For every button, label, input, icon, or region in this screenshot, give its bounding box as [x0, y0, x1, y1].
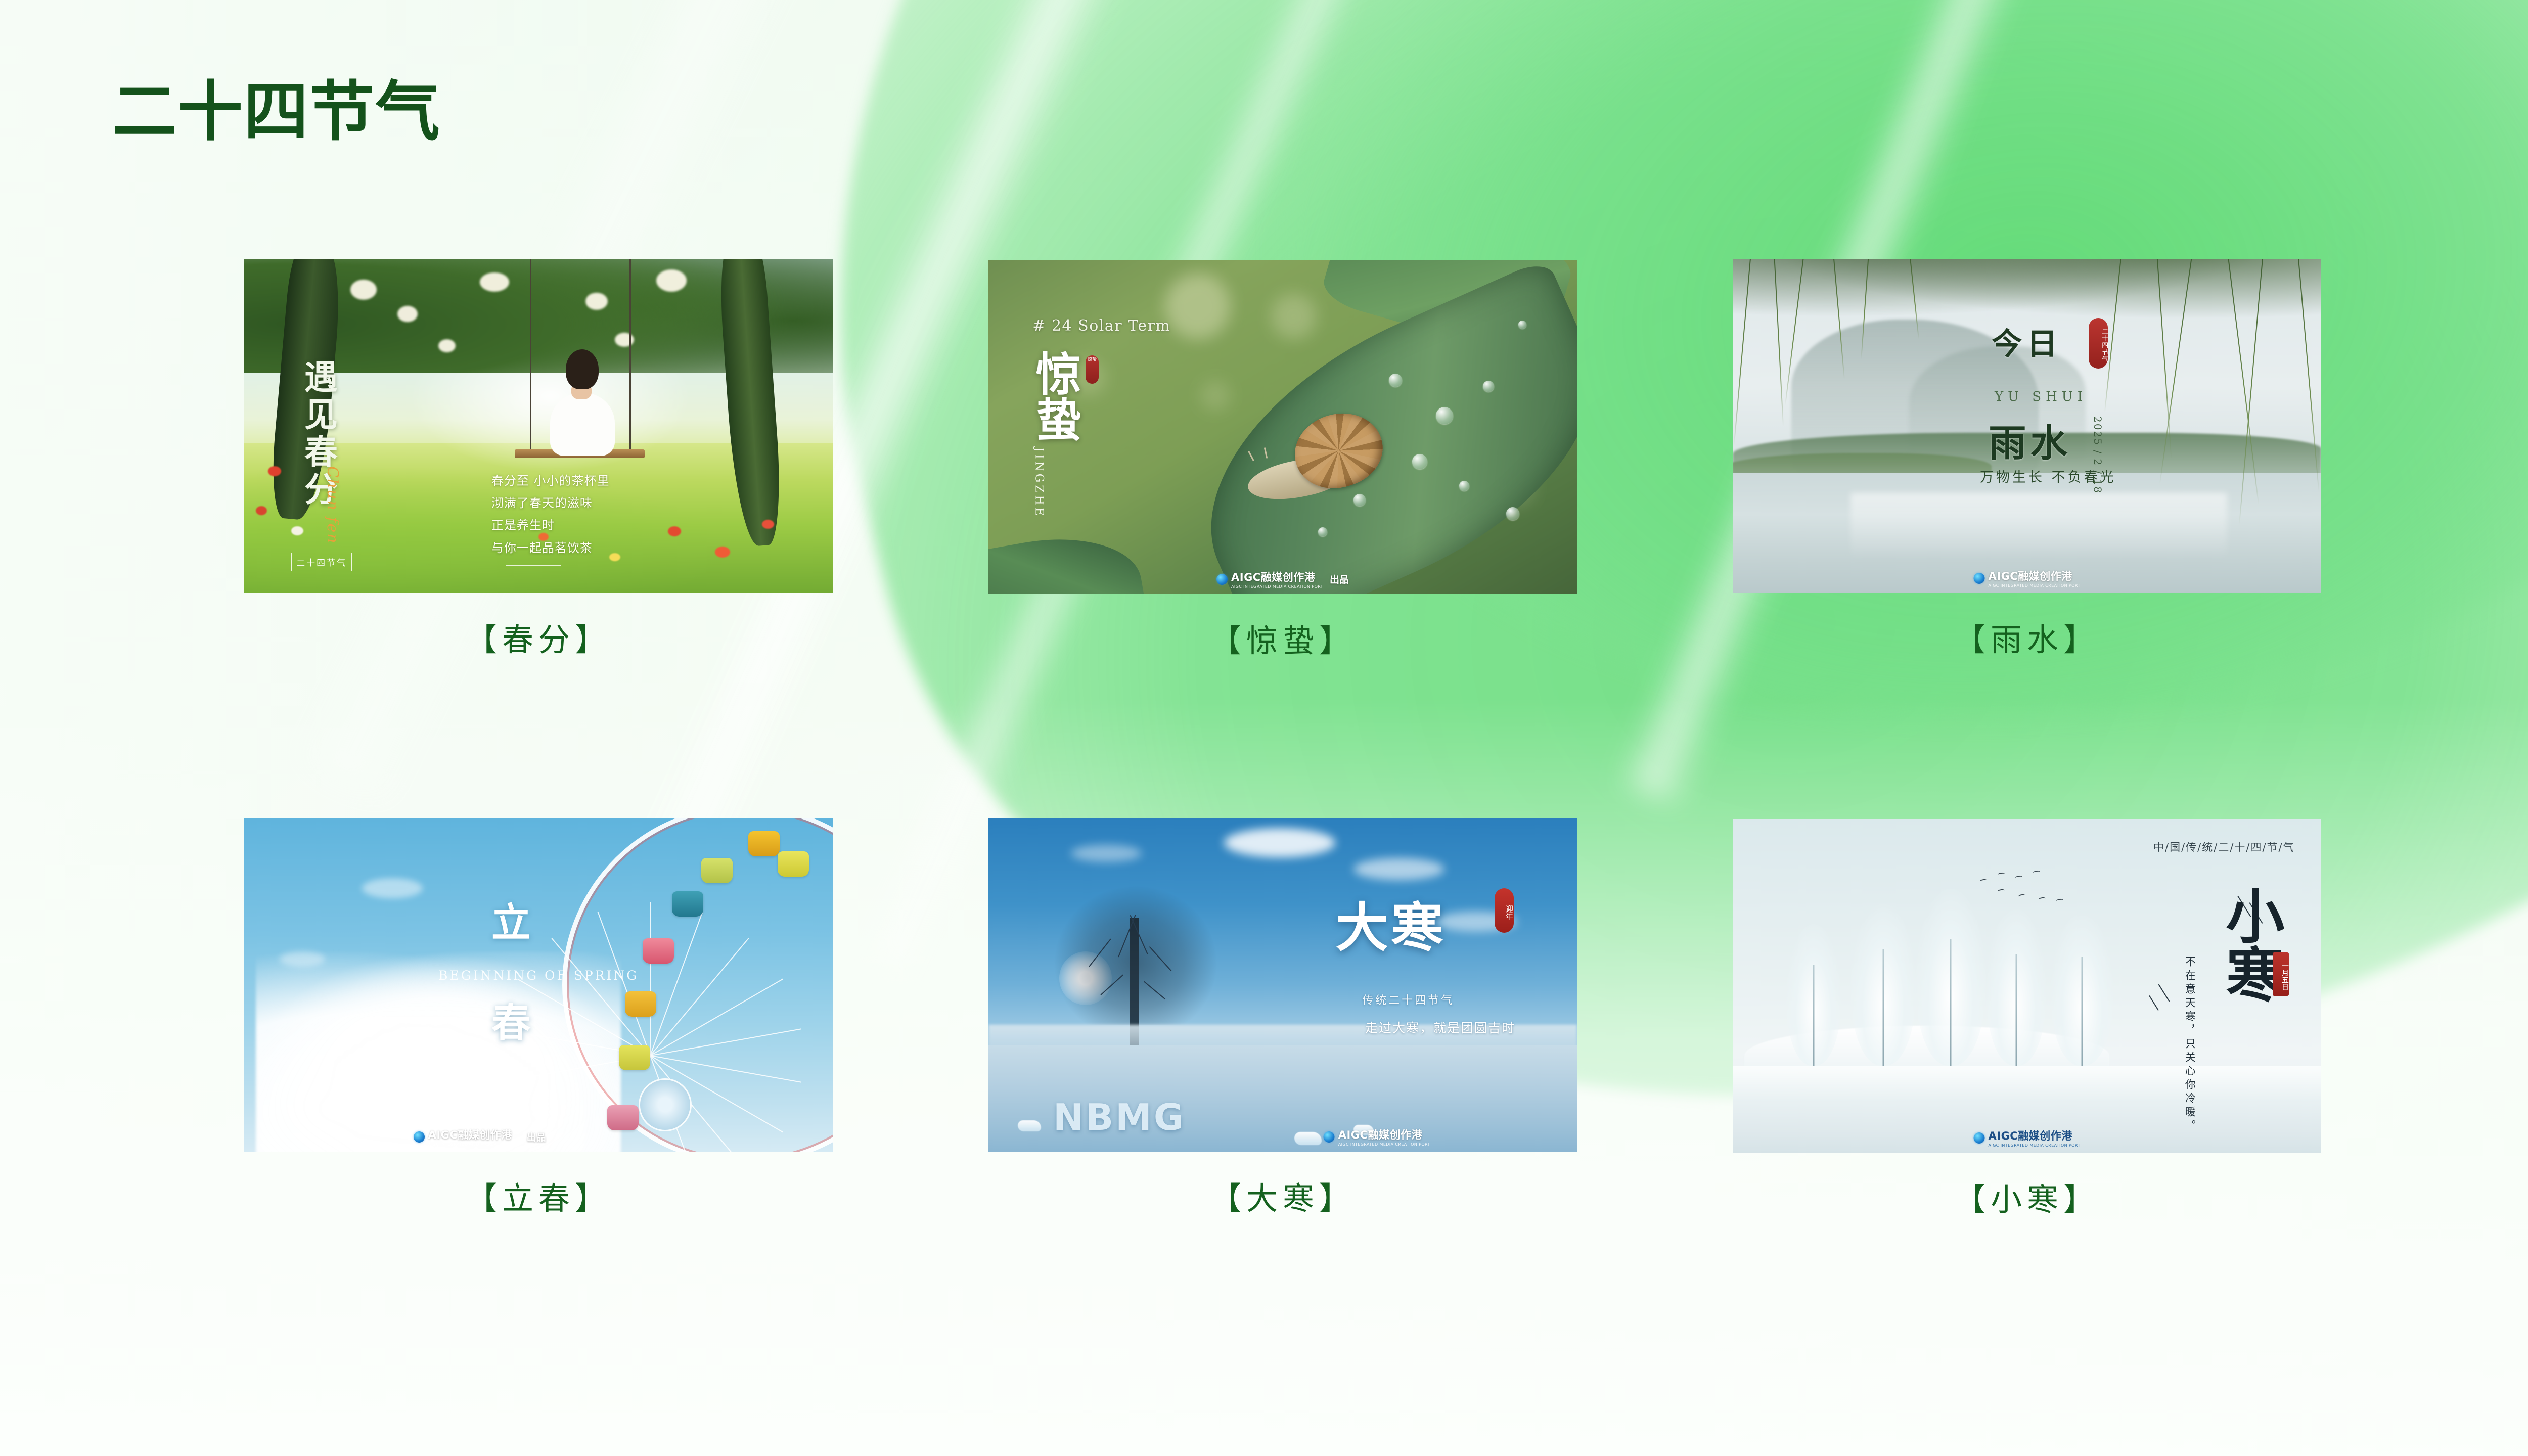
aigc-logo-icon: [414, 1131, 425, 1143]
bird-icon: [1979, 879, 1987, 883]
blossom: [656, 269, 687, 292]
bird-icon: [2015, 875, 2022, 880]
blossom: [350, 280, 377, 300]
water-drop: [1518, 321, 1526, 329]
overlay-title: 大寒: [1336, 885, 1446, 961]
frost-tree: [1850, 894, 1916, 1066]
bird-icon: [1997, 872, 2005, 877]
frost-tree: [1786, 914, 1841, 1066]
overlay-header: 中/国/传/统/二/十/四/节/气: [2153, 839, 2295, 854]
lake-reflection: [1850, 493, 2227, 560]
flower: [609, 553, 620, 561]
frost-tree: [2051, 904, 2114, 1066]
thumbnail-jingzhe[interactable]: # 24 Solar Term 惊蛰 惊蛰 JINGZHE AIGC融媒创作港 …: [988, 260, 1577, 594]
watermark-brand-en: AIGC INTEGRATED MEDIA CREATION PORT: [1989, 583, 2081, 588]
ferris-cabin: [619, 1045, 650, 1070]
thumbnail-chunfen[interactable]: 遇见春分 Chun fen 二十四节气 春分至 小小的茶杯里 沏满了春天的滋味 …: [244, 259, 833, 593]
ferris-cabin: [672, 891, 703, 917]
watermark-brand: AIGC融媒创作港 AIGC INTEGRATED MEDIA CREATION…: [1989, 568, 2081, 588]
watermark: AIGC融媒创作港 AIGC INTEGRATED MEDIA CREATION…: [1974, 568, 2081, 588]
cloud: [362, 878, 423, 898]
watermark-suffix: 出品: [527, 1130, 546, 1144]
watermark-brand-en: AIGC INTEGRATED MEDIA CREATION PORT: [428, 1142, 520, 1147]
water-drop: [1483, 381, 1494, 392]
poem-line: 正是养生时: [491, 518, 555, 532]
ferris-cabin: [643, 938, 674, 964]
watermark-brand-cn: AIGC融媒创作港: [1231, 571, 1315, 583]
frost-trunk: [1950, 939, 1951, 1066]
overlay-stamp: 二十四节气: [291, 553, 352, 571]
overlay-seal: 一月五日: [2273, 952, 2289, 996]
aigc-logo-icon: [1974, 573, 1985, 584]
overlay-rule: [1359, 1012, 1524, 1013]
overlay-title: 小寒: [2220, 886, 2280, 1003]
bokeh: [1271, 294, 1317, 339]
frost-tree: [1915, 879, 1986, 1066]
overlay-subtitle: 万物生长 不负春光: [1980, 466, 2116, 486]
water-drop: [1436, 407, 1453, 424]
card-caption: 【立春】: [244, 1173, 833, 1218]
frost-trunk: [2015, 954, 2017, 1066]
watermark: AIGC融媒创作港 AIGC INTEGRATED MEDIA CREATION…: [1324, 1127, 1430, 1147]
watermark-suffix: 出品: [1330, 572, 1349, 586]
solar-terms-grid: 遇见春分 Chun fen 二十四节气 春分至 小小的茶杯里 沏满了春天的滋味 …: [0, 0, 2528, 1456]
water-drop: [1412, 454, 1427, 469]
overlay-seal: 迎年: [1495, 888, 1514, 933]
bird-icon: [2018, 894, 2025, 898]
frost-trunk: [2082, 957, 2083, 1066]
watermark: AIGC融媒创作港 AIGC INTEGRATED MEDIA CREATION…: [414, 1127, 546, 1147]
spoke: [650, 902, 651, 1056]
watermark-brand: AIGC融媒创作港 AIGC INTEGRATED MEDIA CREATION…: [1231, 569, 1323, 589]
scene-dahan: NBMG 大寒 迎年 传统二十四节气 走过大寒，就是团圆吉时 AIGC融媒创作港…: [988, 818, 1577, 1152]
watermark-brand: AIGC融媒创作港 AIGC INTEGRATED MEDIA CREATION…: [1338, 1127, 1430, 1147]
poem-line: 沏满了春天的滋味: [491, 496, 593, 510]
overlay-title: 惊蛰: [1029, 350, 1078, 441]
swing-rope: [629, 259, 631, 453]
bird-icon: [2056, 898, 2064, 903]
cloud: [280, 951, 325, 967]
blossom: [585, 293, 608, 310]
thumbnail-xiaohan[interactable]: 中/国/传/统/二/十/四/节/气 小寒 一月五日 不在意天寒，只关心你冷暖。 …: [1733, 819, 2321, 1153]
ferris-cabin: [778, 851, 809, 877]
blossom: [480, 272, 509, 292]
person-body: [550, 393, 615, 456]
frost-trunk: [1882, 949, 1884, 1066]
water-drop: [1459, 481, 1469, 491]
flower: [668, 526, 681, 536]
scene-yushui: 今日 YU SHUI 雨水 二十四节气 2025 / 2 / 18 万物生长 不…: [1733, 259, 2321, 593]
watermark-brand: AIGC融媒创作港 AIGC INTEGRATED MEDIA CREATION…: [428, 1127, 520, 1147]
overlay-subtitle-a: 传统二十四节气: [1362, 991, 1454, 1008]
ice-sculpture-text: NBMG: [1053, 1096, 1186, 1139]
card-caption: 【大寒】: [988, 1173, 1577, 1218]
bird-icon: [2033, 870, 2040, 875]
ice-block: [1018, 1120, 1041, 1131]
card-caption: 【雨水】: [1733, 614, 2321, 660]
scene-jingzhe: # 24 Solar Term 惊蛰 惊蛰 JINGZHE AIGC融媒创作港 …: [988, 260, 1577, 594]
overlay-tag-en: # 24 Solar Term: [1032, 317, 1170, 335]
ferris-wheel-hub: [639, 1078, 692, 1132]
ferris-cabin: [748, 831, 780, 856]
watermark: AIGC融媒创作港 AIGC INTEGRATED MEDIA CREATION…: [1216, 569, 1349, 589]
poem-line: 春分至 小小的茶杯里: [491, 474, 610, 488]
frost-tree: [1986, 899, 2047, 1066]
flower: [762, 520, 774, 529]
thumbnail-dahan[interactable]: NBMG 大寒 迎年 传统二十四节气 走过大寒，就是团圆吉时 AIGC融媒创作港…: [988, 818, 1577, 1152]
flower: [715, 547, 730, 558]
flower: [291, 526, 303, 535]
overlay-subtitle-en: BEGINNING OF SPRING: [438, 968, 639, 983]
poem-line: 与你一起品茗饮茶: [491, 541, 593, 555]
overlay-pinyin: YU SHUI: [1995, 389, 2087, 404]
scene-xiaohan: 中/国/传/统/二/十/四/节/气 小寒 一月五日 不在意天寒，只关心你冷暖。 …: [1733, 819, 2321, 1153]
ferris-cabin: [701, 858, 733, 883]
cloud: [1224, 828, 1335, 857]
overlay-today: 今日: [1992, 320, 2062, 363]
overlay-title-bottom: 春: [491, 991, 531, 1048]
bird-icon: [1997, 889, 2005, 893]
card-caption: 【惊蛰】: [988, 615, 1577, 661]
overlay-seal: 二十四节气: [2089, 318, 2108, 369]
watermark-brand: AIGC融媒创作港 AIGC INTEGRATED MEDIA CREATION…: [1989, 1128, 2081, 1148]
watermark-brand-cn: AIGC融媒创作港: [428, 1129, 512, 1141]
decorative-dash: [2149, 995, 2159, 1011]
cloud: [1353, 858, 1444, 880]
overlay-poem: 春分至 小小的茶杯里 沏满了春天的滋味 正是养生时 与你一起品茗饮茶: [491, 470, 610, 567]
watermark: AIGC融媒创作港 AIGC INTEGRATED MEDIA CREATION…: [1974, 1128, 2081, 1148]
ferris-cabin: [625, 991, 656, 1017]
overlay-title-top: 立: [491, 891, 531, 948]
water-drop: [1353, 494, 1366, 506]
thumbnail-yushui[interactable]: 今日 YU SHUI 雨水 二十四节气 2025 / 2 / 18 万物生长 不…: [1733, 259, 2321, 593]
frost-trunk: [1813, 965, 1814, 1066]
thumbnail-lichun[interactable]: 立 BEGINNING OF SPRING 春 AIGC融媒创作港 AIGC I…: [244, 818, 833, 1152]
overlay-poem: 不在意天寒，只关心你冷暖。: [2179, 956, 2200, 1133]
overlay-subtitle-b: 走过大寒，就是团圆吉时: [1365, 1018, 1515, 1036]
blossom: [397, 306, 418, 322]
aigc-logo-icon: [1324, 1131, 1335, 1143]
card-caption: 【小寒】: [1733, 1174, 2321, 1219]
scene-chunfen: 遇见春分 Chun fen 二十四节气 春分至 小小的茶杯里 沏满了春天的滋味 …: [244, 259, 833, 593]
ferris-cabin: [607, 1105, 639, 1130]
watermark-brand-cn: AIGC融媒创作港: [1338, 1129, 1422, 1141]
water-drop: [1389, 374, 1402, 387]
scene-lichun: 立 BEGINNING OF SPRING 春 AIGC融媒创作港 AIGC I…: [244, 818, 833, 1152]
swing-rope: [530, 259, 531, 453]
watermark-brand-en: AIGC INTEGRATED MEDIA CREATION PORT: [1231, 584, 1323, 589]
ice-block: [1294, 1132, 1322, 1145]
person-head: [566, 349, 599, 389]
overlay-pinyin: Chun fen: [324, 466, 341, 544]
bokeh: [1165, 274, 1231, 339]
watermark-brand-en: AIGC INTEGRATED MEDIA CREATION PORT: [1338, 1142, 1430, 1147]
watermark-brand-cn: AIGC融媒创作港: [1989, 1130, 2072, 1142]
poem-rule: [506, 565, 561, 566]
watermark-brand-en: AIGC INTEGRATED MEDIA CREATION PORT: [1989, 1143, 2081, 1148]
decorative-dash: [2158, 984, 2170, 1002]
cloud: [1071, 845, 1142, 862]
bokeh: [1200, 381, 1231, 411]
watermark-brand-cn: AIGC融媒创作港: [1989, 570, 2072, 582]
flower: [268, 466, 281, 476]
card-caption: 【春分】: [244, 614, 833, 660]
overlay-title: 雨水: [1989, 413, 2071, 467]
aigc-logo-icon: [1974, 1132, 1985, 1144]
aigc-logo-icon: [1216, 574, 1228, 585]
overlay-pinyin: JINGZHE: [1032, 447, 1045, 518]
water-drop: [1318, 527, 1327, 536]
overlay-seal: 惊蛰: [1086, 355, 1099, 384]
